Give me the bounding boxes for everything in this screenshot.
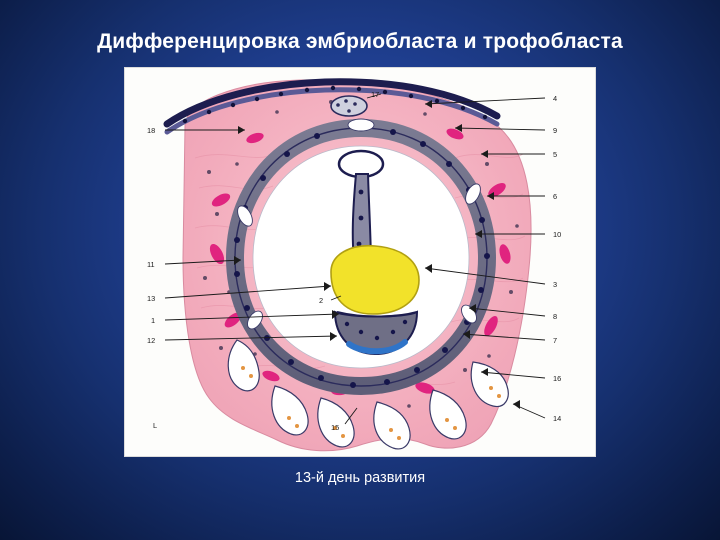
svg-text:13: 13 bbox=[147, 294, 155, 303]
svg-text:7: 7 bbox=[553, 336, 557, 345]
svg-text:12: 12 bbox=[147, 336, 155, 345]
svg-text:9: 9 bbox=[553, 126, 557, 135]
svg-text:L: L bbox=[153, 421, 157, 430]
svg-text:15: 15 bbox=[331, 423, 339, 432]
svg-text:11: 11 bbox=[147, 260, 155, 269]
svg-text:16: 16 bbox=[553, 374, 561, 383]
svg-text:14: 14 bbox=[553, 414, 561, 423]
svg-text:17: 17 bbox=[371, 90, 379, 99]
svg-text:2: 2 bbox=[319, 296, 323, 305]
figure-image: 4 9 5 6 10 3 8 7 16 14 18 11 13 1 12 17 bbox=[125, 68, 595, 456]
svg-text:6: 6 bbox=[553, 192, 557, 201]
svg-text:10: 10 bbox=[553, 230, 561, 239]
svg-text:3: 3 bbox=[553, 280, 557, 289]
svg-text:4: 4 bbox=[553, 94, 557, 103]
svg-text:5: 5 bbox=[553, 150, 557, 159]
svg-text:1: 1 bbox=[151, 316, 155, 325]
page-title: Дифференцировка эмбриобласта и трофоблас… bbox=[0, 30, 720, 54]
slide: Дифференцировка эмбриобласта и трофоблас… bbox=[0, 0, 720, 540]
svg-text:8: 8 bbox=[553, 312, 557, 321]
svg-text:18: 18 bbox=[147, 126, 155, 135]
figure-caption: 13-й день развития bbox=[0, 470, 720, 486]
histology-diagram: 4 9 5 6 10 3 8 7 16 14 18 11 13 1 12 17 bbox=[125, 68, 595, 456]
